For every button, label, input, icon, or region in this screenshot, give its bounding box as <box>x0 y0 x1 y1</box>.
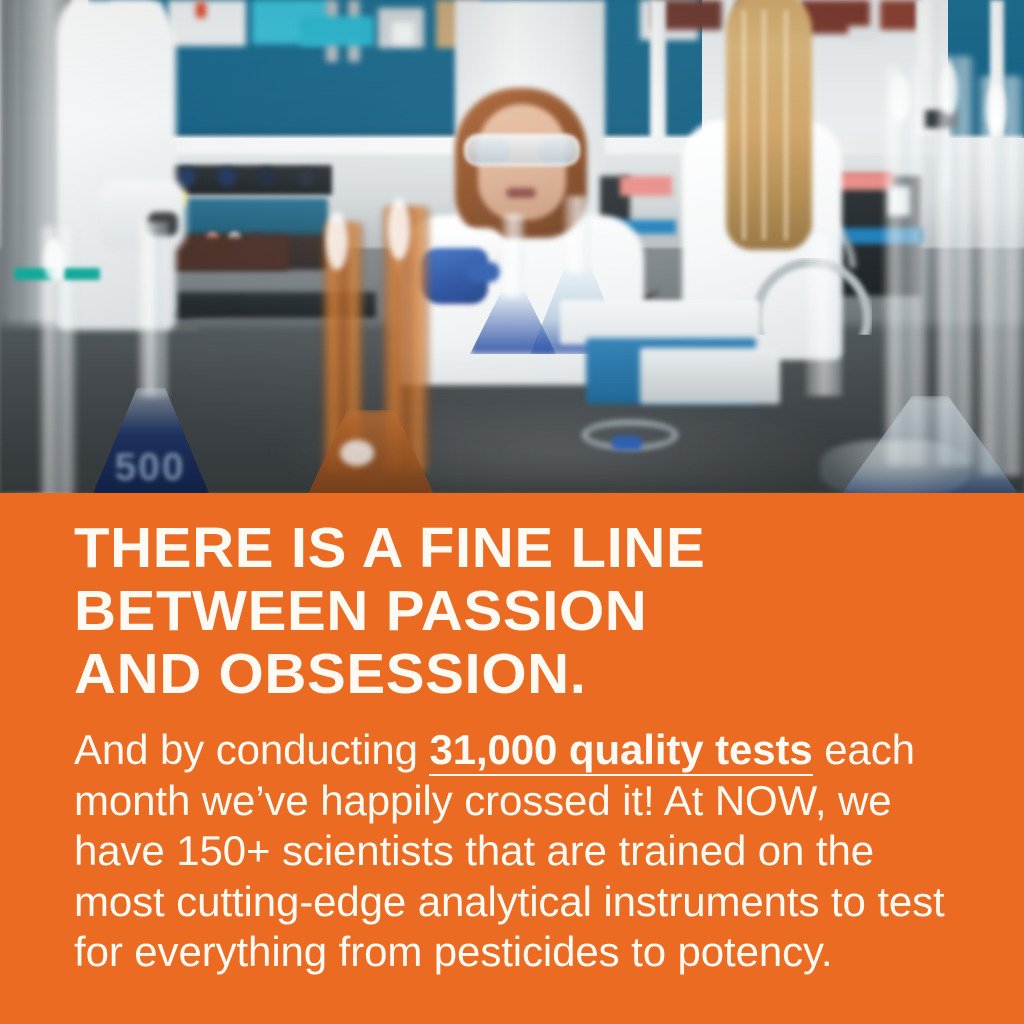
instrument-valve-3 <box>218 168 236 186</box>
social-media-card: 500 THERE IS A FINE LINE BETWEEN PASSION… <box>0 0 1024 1024</box>
amber-highlight-1 <box>326 212 348 270</box>
headline-line-3: AND OBSESSION. <box>74 643 972 706</box>
safety-goggles <box>464 134 580 166</box>
pipette-mark-right <box>64 268 100 280</box>
cylinder-highlight-1 <box>890 74 910 122</box>
equipment-strip-pink-1 <box>620 176 672 196</box>
scientist-background-hair <box>726 0 812 250</box>
flask-clear-center-neck <box>564 196 590 274</box>
body-copy: And by conducting 31,000 quality tests e… <box>74 725 946 978</box>
instrument-window <box>168 236 288 270</box>
amber-highlight-2 <box>388 198 410 260</box>
headline-line-1: THERE IS A FINE LINE <box>74 517 972 580</box>
instrument-valve-5 <box>298 170 314 186</box>
body-text-before: And by conducting <box>74 726 429 773</box>
flask-blue-center-neck <box>502 214 524 298</box>
shelf-box-dark-4 <box>880 0 920 30</box>
cylinder-highlight-2 <box>940 64 958 116</box>
scientist-foreground-mouth <box>506 188 536 198</box>
headline-line-2: BETWEEN PASSION <box>74 580 972 643</box>
page-title: THERE IS A FINE LINE BETWEEN PASSION AND… <box>74 517 972 706</box>
instrument-body-right <box>640 348 780 404</box>
amber-highlight-3 <box>340 440 374 466</box>
instrument-valve-2 <box>178 168 196 186</box>
right-glass-rod <box>806 236 842 396</box>
orange-message-panel: THERE IS A FINE LINE BETWEEN PASSION AND… <box>0 493 1024 1024</box>
quality-tests-highlight: 31,000 quality tests <box>429 726 812 776</box>
nitrile-glove-fingers <box>466 262 500 282</box>
hair-strand-3 <box>784 10 788 240</box>
shelf-box-6 <box>848 26 878 42</box>
shelf-box-4 <box>392 22 414 44</box>
instrument-valve-4 <box>258 168 276 186</box>
laboratory-photo: 500 <box>0 0 1024 493</box>
cylinder-highlight-3 <box>986 84 1006 134</box>
flask-500-label: 500 <box>104 446 196 488</box>
hair-strand-2 <box>762 10 766 240</box>
graduated-cylinder-3 <box>978 76 1024 476</box>
watch-glass-liquid <box>612 436 642 450</box>
shelf-box-2 <box>168 0 246 46</box>
right-flask-base <box>820 440 970 493</box>
flask-500-neck <box>138 222 168 398</box>
pipette-highlight <box>44 238 64 282</box>
cabinet-divider-2 <box>650 0 666 150</box>
hair-strand-1 <box>742 10 746 240</box>
shelf-box-cyan <box>300 16 374 46</box>
shelf-label-red-2 <box>196 2 206 18</box>
